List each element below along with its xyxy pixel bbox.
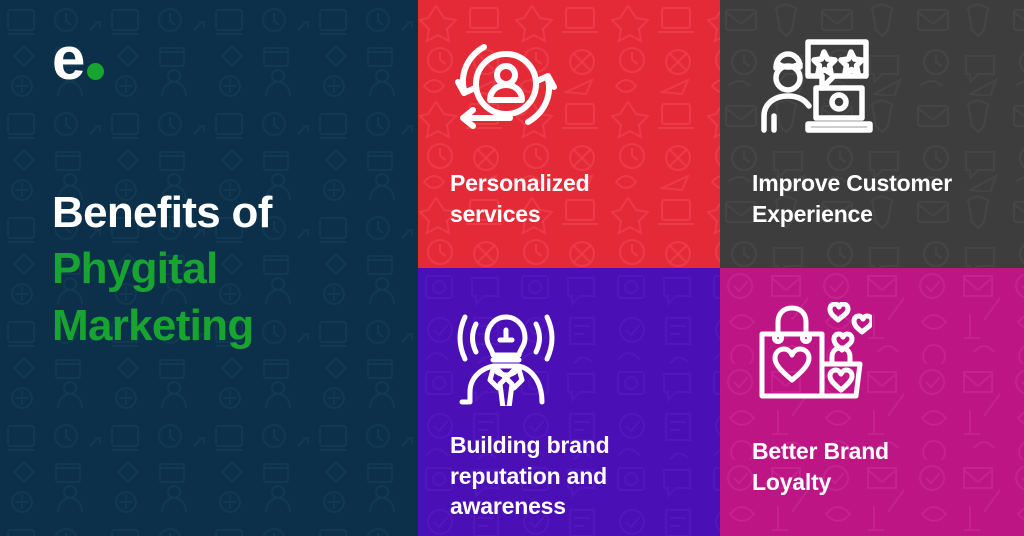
benefit-label: Better Brand Loyalty — [752, 436, 1000, 497]
benefit-label-line-2: Loyalty — [752, 467, 1000, 498]
infographic-poster: e Benefits of Phygital Marketing — [0, 0, 1024, 536]
benefit-label-line-1: Better Brand — [752, 436, 1000, 467]
benefit-label-line-2: services — [450, 199, 696, 230]
headline-line-2: Phygital — [52, 241, 272, 297]
benefit-label-line-2: reputation and — [450, 461, 696, 492]
benefit-card-better-brand-loyalty: Better Brand Loyalty — [720, 268, 1024, 536]
shopping-bags-hearts-icon — [752, 302, 1000, 414]
brand-content: e Benefits of Phygital Marketing — [0, 0, 418, 536]
benefit-label-line-3: awareness — [450, 491, 696, 522]
benefit-label-line-1: Improve Customer — [752, 168, 1000, 199]
benefit-label: Personalized services — [450, 168, 696, 229]
logo-dot-icon — [87, 63, 104, 80]
benefit-label: Building brand reputation and awareness — [450, 430, 696, 522]
brand-panel: e Benefits of Phygital Marketing — [0, 0, 418, 536]
person-laptop-star-review-icon — [752, 34, 1000, 146]
benefit-label: Improve Customer Experience — [752, 168, 1000, 229]
benefit-label-line-1: Personalized — [450, 168, 696, 199]
benefit-label-line-1: Building brand — [450, 430, 696, 461]
headline-line-1: Benefits of — [52, 185, 272, 241]
benefit-card-building-brand-reputation: Building brand reputation and awareness — [418, 268, 720, 536]
person-cycle-arrows-icon — [450, 34, 696, 146]
logo-letter: e — [52, 33, 84, 84]
benefit-label-line-2: Experience — [752, 199, 1000, 230]
page-title: Benefits of Phygital Marketing — [52, 185, 272, 354]
benefits-grid: Personalized services — [418, 0, 1024, 536]
benefit-card-personalized-services: Personalized services — [418, 0, 720, 268]
lightbulb-head-person-icon — [450, 302, 696, 414]
headline-line-3: Marketing — [52, 298, 272, 354]
benefit-card-improve-customer-experience: Improve Customer Experience — [720, 0, 1024, 268]
logo: e — [52, 28, 418, 84]
